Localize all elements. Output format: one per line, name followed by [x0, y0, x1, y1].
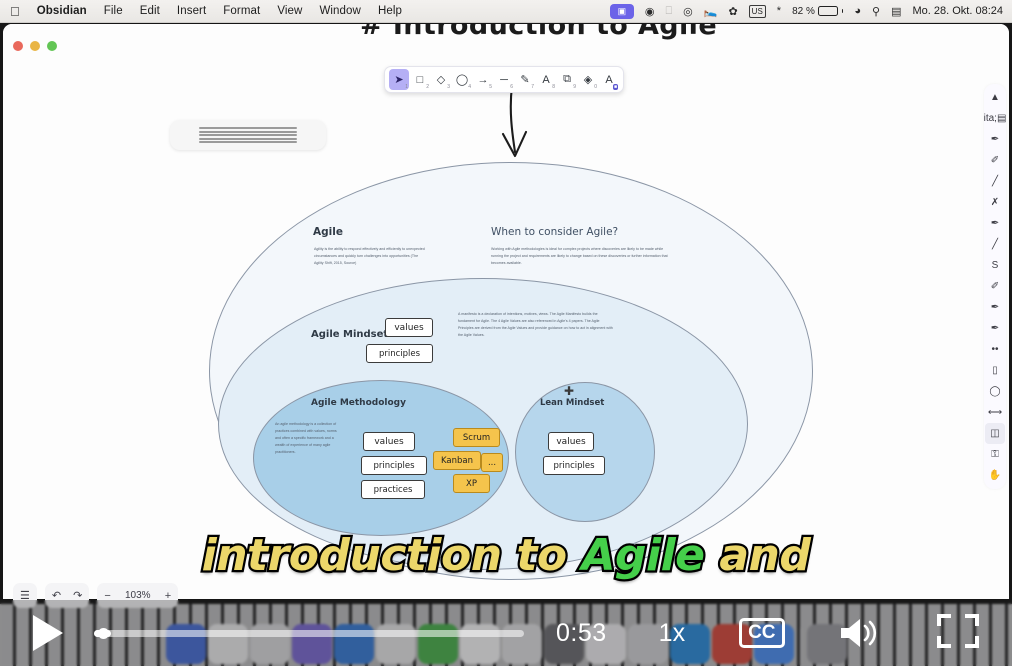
blurred-pill-widget[interactable] [170, 120, 326, 150]
bluetooth-icon[interactable]: * [777, 5, 781, 17]
rectangle-tool[interactable]: □2 [410, 69, 430, 90]
arrow-tool[interactable]: →5 [473, 69, 493, 90]
arrow-tool-num: 5 [489, 84, 492, 90]
pen-dark-icon[interactable]: ✒ [985, 297, 1005, 318]
color-picker-icon[interactable]: ▲ [985, 87, 1005, 108]
macos-menubar:  Obsidian File Edit Insert Format View … [0, 0, 1012, 23]
diamond-tool-num: 3 [447, 84, 450, 90]
screen-mirroring-icon[interactable]: ⎕ [666, 5, 673, 18]
heading-lean-mindset: Lean Mindset [540, 398, 604, 408]
progress-bar-wrapper[interactable] [94, 630, 524, 637]
diamond-tool[interactable]: ◇3 [431, 69, 451, 90]
box-more[interactable]: ... [481, 453, 503, 472]
split-view-icon[interactable]: ◫ [985, 423, 1005, 444]
line-tool-num: 6 [510, 84, 513, 90]
screen-share-icon[interactable]: ▣ [610, 4, 634, 19]
menu-help[interactable]: Help [378, 5, 402, 17]
window-traffic-lights [13, 41, 57, 51]
note-title: # Introduction to Agile [360, 24, 717, 41]
annotation-tool-rail[interactable]: ▲ ita;▤ ✒ ✐ ╱ ✗ ✒ ╱ S ✐ ✒ ✒ •• ▯ ◯ ⟷ ◫ ⚿… [984, 84, 1006, 489]
eraser-tool-num: 0 [594, 84, 597, 90]
marker-icon[interactable]: ✐ [985, 150, 1005, 171]
pill-lines-icon [199, 127, 297, 143]
menu-view[interactable]: View [277, 5, 302, 17]
box-methodology-practices[interactable]: practices [361, 480, 425, 499]
lock-icon[interactable]: ⚿ [985, 444, 1005, 465]
heading-agile-mindset: Agile Mindset [311, 329, 388, 340]
hand-icon[interactable]: ✋ [985, 465, 1005, 486]
captions-button[interactable]: CC [739, 618, 784, 648]
wifi-icon[interactable]: ◕ [854, 5, 861, 17]
cursor-crosshair-icon: ✚ [564, 384, 574, 398]
progress-handle[interactable] [98, 628, 109, 639]
current-time-label: 0:53 [556, 619, 607, 648]
menu-format[interactable]: Format [223, 5, 260, 17]
box-lean-principles[interactable]: principles [543, 456, 605, 475]
pencil-blue-icon[interactable]: ╱ [985, 171, 1005, 192]
menu-insert[interactable]: Insert [177, 5, 206, 17]
dots-icon[interactable]: •• [985, 339, 1005, 360]
menubar-app-menus:  Obsidian File Edit Insert Format View … [0, 5, 402, 18]
playback-rate-button[interactable]: 1x [659, 619, 685, 648]
caption-part-1: introduction to [202, 530, 582, 581]
search-icon[interactable]: ⚲ [872, 5, 880, 18]
library-tool[interactable]: A■ [599, 69, 619, 90]
battery-indicator[interactable]: 82 % [792, 6, 843, 17]
apple-menu-icon[interactable]:  [10, 5, 20, 18]
box-mindset-principles[interactable]: principles [366, 344, 433, 363]
eraser2-icon[interactable]: ▯ [985, 360, 1005, 381]
excalidraw-canvas[interactable]: # Introduction to Agile Agile When to co… [3, 24, 1009, 599]
progress-bar[interactable] [94, 630, 524, 637]
heading-when-to-consider-agile: When to consider Agile? [491, 226, 618, 238]
highlighter-icon[interactable]: ✗ [985, 192, 1005, 213]
image-tool[interactable]: ⧉9 [557, 69, 577, 90]
selection-tool-num: 1 [405, 84, 408, 90]
battery-percent-label: 82 % [792, 6, 815, 17]
body-when-to-consider: Working with Agile methodologies is idea… [491, 246, 673, 267]
pen-red-icon[interactable]: ✒ [985, 213, 1005, 234]
rectangle-tool-num: 2 [426, 84, 429, 90]
pen-black-icon[interactable]: ✒ [985, 129, 1005, 150]
ruler-icon[interactable]: ⟷ [985, 402, 1005, 423]
eraser-tool[interactable]: ◈0 [578, 69, 598, 90]
box-kanban[interactable]: Kanban [433, 451, 481, 470]
siri-icon[interactable]: ▤ [891, 5, 901, 18]
draw-tool-num: 7 [531, 84, 534, 90]
page-icon[interactable]: ita;▤ [985, 108, 1005, 129]
fullscreen-icon[interactable] [935, 610, 981, 657]
line-tool[interactable]: ─6 [494, 69, 514, 90]
box-scrum[interactable]: Scrum [453, 428, 500, 447]
obsidian-window: # Introduction to Agile Agile When to co… [3, 24, 1009, 599]
menu-edit[interactable]: Edit [140, 5, 160, 17]
text-tool-num: 8 [552, 84, 555, 90]
body-manifesto: A manifesto is a declaration of intentio… [458, 311, 613, 339]
record-icon[interactable]: ◎ [683, 5, 693, 18]
brush-icon[interactable]: ✐ [985, 276, 1005, 297]
excalidraw-toolbar[interactable]: ➤1 □2 ◇3 ◯4 →5 ─6 ✎7 A8 ⧉9 ◈0 A■ [384, 66, 624, 93]
box-mindset-values[interactable]: values [385, 318, 433, 337]
down-arrow-annotation [493, 84, 539, 169]
body-agile: Agility is the ability to respond effect… [314, 246, 426, 267]
caption-part-3: and [705, 530, 811, 581]
box-xp[interactable]: XP [453, 474, 490, 493]
bed-icon[interactable]: 🛌 [704, 5, 718, 18]
menubar-clock[interactable]: Mo. 28. Okt. 08:24 [913, 5, 1004, 17]
library-tool-badge: ■ [613, 84, 618, 90]
lasso-icon[interactable]: S [985, 255, 1005, 276]
maximize-button[interactable] [47, 41, 57, 51]
keyboard-layout-indicator[interactable]: US [749, 5, 766, 18]
body-methodology: An agile methodology is a collection of … [275, 421, 337, 456]
box-methodology-principles[interactable]: principles [361, 456, 427, 475]
box-methodology-values[interactable]: values [363, 432, 415, 451]
volume-icon[interactable] [837, 615, 883, 651]
play-icon[interactable] [28, 613, 68, 653]
draw-tool[interactable]: ✎7 [515, 69, 535, 90]
caption-part-2: Agile [581, 530, 704, 581]
shapes-icon[interactable]: ◯ [985, 381, 1005, 402]
control-center-icon[interactable]: ◉ [645, 5, 655, 18]
ellipse-tool[interactable]: ◯4 [452, 69, 472, 90]
battery-icon [818, 6, 838, 16]
menubar-status-items: ▣ ◉ ⎕ ◎ 🛌 ✿ US * 82 % ◕ ⚲ ▤ Mo. 28. Okt.… [610, 4, 1012, 19]
selection-tool[interactable]: ➤1 [389, 69, 409, 90]
video-caption: introduction to Agile and [0, 530, 1012, 581]
menu-file[interactable]: File [104, 5, 123, 17]
thin-pen-icon[interactable]: ╱ [985, 234, 1005, 255]
image-tool-num: 9 [573, 84, 576, 90]
shortcuts-icon[interactable]: ✿ [728, 5, 737, 18]
pen-dark2-icon[interactable]: ✒ [985, 318, 1005, 339]
heading-agile-methodology: Agile Methodology [311, 398, 406, 408]
heading-agile: Agile [313, 226, 343, 238]
text-tool[interactable]: A8 [536, 69, 556, 90]
box-lean-values[interactable]: values [548, 432, 594, 451]
video-player-controls[interactable]: 0:53 1x CC [0, 600, 1012, 666]
menu-window[interactable]: Window [319, 5, 361, 17]
ellipse-tool-num: 4 [468, 84, 471, 90]
close-button[interactable] [13, 41, 23, 51]
menu-obsidian[interactable]: Obsidian [37, 5, 87, 17]
minimize-button[interactable] [30, 41, 40, 51]
